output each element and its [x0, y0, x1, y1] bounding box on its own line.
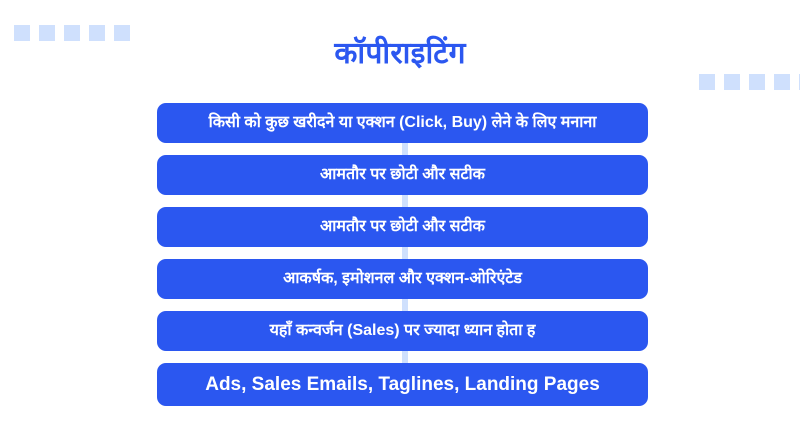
decor-square-icon [724, 74, 740, 90]
decor-squares-top-right [699, 74, 800, 90]
flow-item-6[interactable]: Ads, Sales Emails, Taglines, Landing Pag… [157, 363, 648, 406]
flow-item-4[interactable]: आकर्षक, इमोशनल और एक्शन-ओरिएंटेड [157, 259, 648, 299]
flow-item-3[interactable]: आमतौर पर छोटी और सटीक [157, 207, 648, 247]
slide-canvas: कॉपीराइटिंग किसी को कुछ खरीदने या एक्शन … [0, 0, 800, 445]
decor-square-icon [699, 74, 715, 90]
page-title: कॉपीराइटिंग [0, 36, 800, 72]
flow-item-5[interactable]: यहाँ कन्वर्जन (Sales) पर ज्यादा ध्यान हो… [157, 311, 648, 351]
flow-item-1[interactable]: किसी को कुछ खरीदने या एक्शन (Click, Buy)… [157, 103, 648, 143]
flow-item-2[interactable]: आमतौर पर छोटी और सटीक [157, 155, 648, 195]
decor-square-icon [774, 74, 790, 90]
decor-square-icon [749, 74, 765, 90]
flow-list: किसी को कुछ खरीदने या एक्शन (Click, Buy)… [157, 103, 648, 406]
